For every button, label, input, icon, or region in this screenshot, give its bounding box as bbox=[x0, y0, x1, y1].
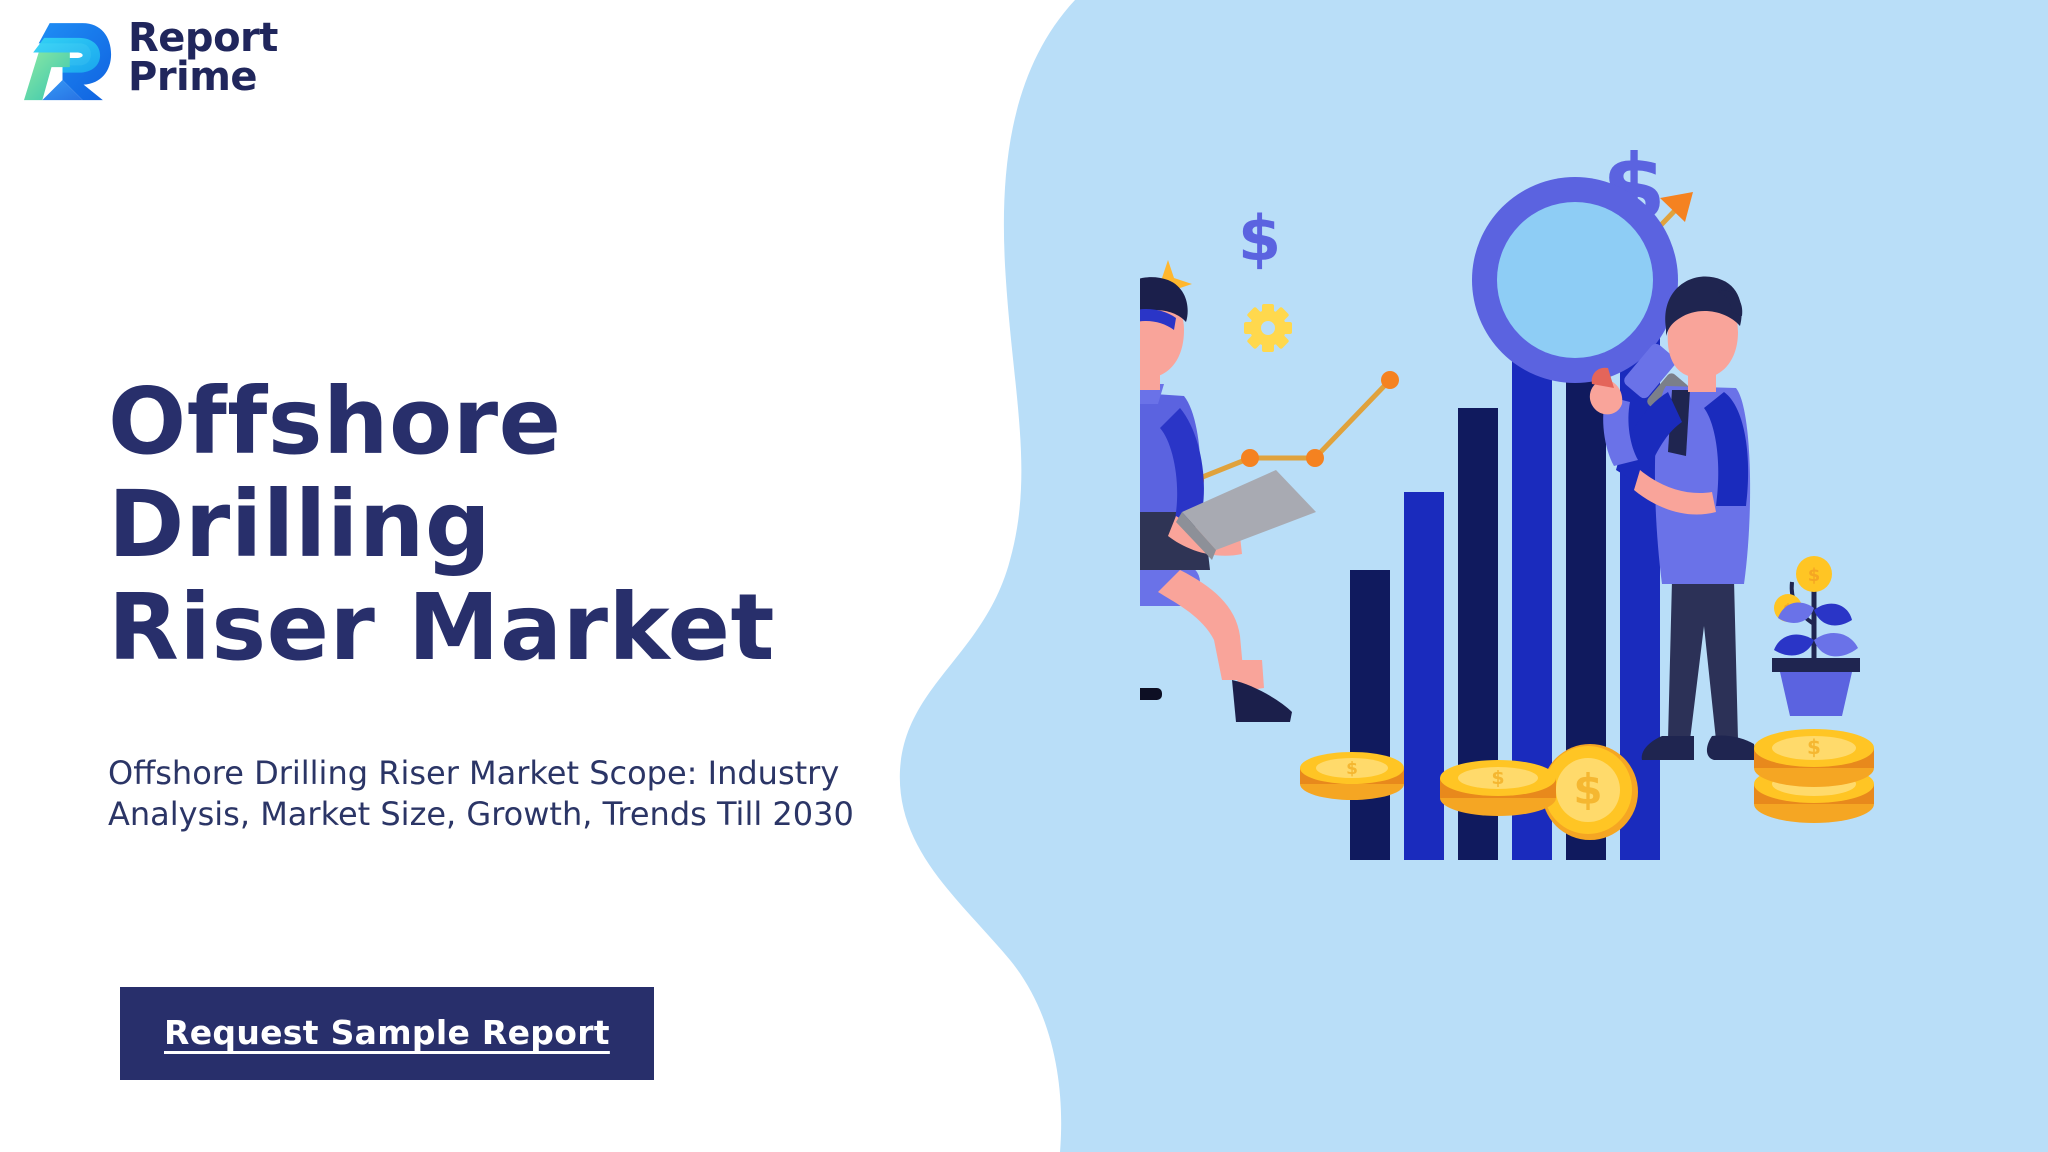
svg-text:$: $ bbox=[1491, 767, 1504, 789]
market-analysis-illustration: $ $ bbox=[1140, 140, 1940, 860]
trend-dot bbox=[1381, 371, 1399, 389]
hero-content: Offshore Drilling Riser Market Offshore … bbox=[108, 370, 948, 835]
logo-wordmark: Report Prime bbox=[128, 19, 278, 97]
svg-text:$: $ bbox=[1346, 759, 1358, 779]
poster-canvas: Report Prime Offshore Drilling Riser Mar… bbox=[0, 0, 2048, 1152]
brand-logo[interactable]: Report Prime bbox=[22, 14, 278, 102]
woman-with-laptop-figure bbox=[1140, 277, 1316, 722]
trend-dot bbox=[1241, 449, 1259, 467]
trend-line-overlay bbox=[1186, 371, 1399, 489]
page-title: Offshore Drilling Riser Market bbox=[108, 370, 948, 679]
trend-dot bbox=[1306, 449, 1324, 467]
money-plant-right: $ $ bbox=[1772, 556, 1860, 716]
svg-text:$: $ bbox=[1808, 565, 1821, 586]
coin-single-middle: $ bbox=[1300, 752, 1404, 800]
request-sample-report-label: Request Sample Report bbox=[164, 1013, 610, 1052]
page-subtitle: Offshore Drilling Riser Market Scope: In… bbox=[108, 753, 898, 835]
logo-line-2: Prime bbox=[128, 58, 278, 97]
gear-icon bbox=[1244, 304, 1292, 352]
request-sample-report-button[interactable]: Request Sample Report bbox=[120, 987, 654, 1080]
dollar-sign-icon: $ bbox=[1238, 202, 1281, 275]
svg-text:$: $ bbox=[1807, 735, 1821, 759]
coin-stack-far-right: $ bbox=[1754, 729, 1874, 823]
svg-text:$: $ bbox=[1573, 765, 1602, 814]
report-prime-mark-icon bbox=[22, 14, 114, 102]
logo-line-1: Report bbox=[128, 19, 278, 58]
